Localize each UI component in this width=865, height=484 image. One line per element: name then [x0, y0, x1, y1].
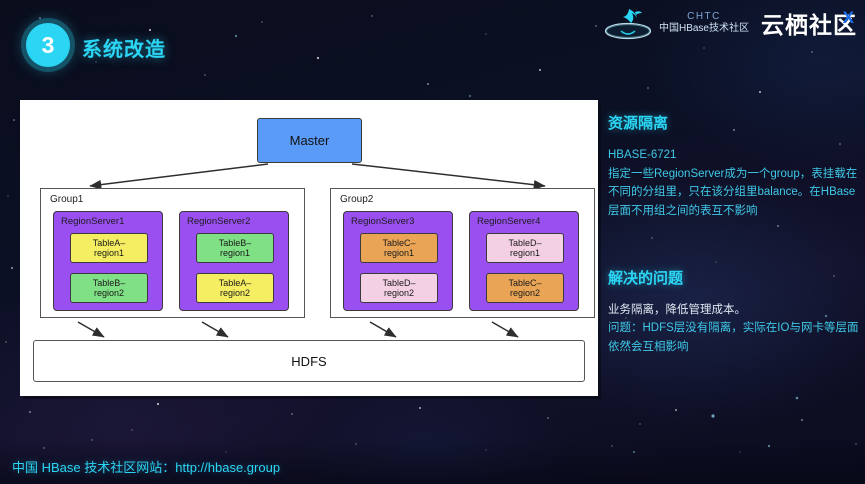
table-region-line2: region2: [384, 288, 414, 298]
section-solved-title: 解决的问题: [608, 267, 860, 288]
table-region-line2: region1: [384, 248, 414, 258]
table-region-line1: TableB–: [93, 278, 126, 288]
table-region-line1: TableC–: [382, 238, 415, 248]
table-region-line2: region1: [220, 248, 250, 258]
section-resource-isolation: 资源隔离 HBASE-6721 指定一些RegionServer成为一个grou…: [608, 112, 860, 221]
yunqi-logo: 云栖社 区 X: [761, 6, 857, 40]
regionserver-label-3: RegionServer3: [351, 216, 414, 227]
regionserver-label-4: RegionServer4: [477, 216, 540, 227]
table-region-box[interactable]: TableB– region1: [196, 233, 274, 263]
table-region-line1: TableA–: [219, 278, 252, 288]
group-container-1: Group1 RegionServer1 TableA– region1 Tab…: [40, 188, 305, 318]
dolphin-icon: [599, 3, 657, 43]
table-region-box[interactable]: TableA– region1: [70, 233, 148, 263]
table-region-line1: TableD–: [382, 278, 415, 288]
section-solved-body: 业务隔离，降低管理成本。 问题：HDFS层没有隔离，实际在IO与网卡等层面依然会…: [608, 301, 860, 357]
regionserver-node-1[interactable]: RegionServer1 TableA– region1 TableB– re…: [53, 211, 163, 311]
yunqi-logo-text: 云栖社: [761, 6, 833, 40]
isolation-description: 指定一些RegionServer成为一个group，表挂载在不同的分组里，只在该…: [608, 165, 860, 221]
group-label-1: Group1: [50, 194, 83, 205]
master-node[interactable]: Master: [257, 118, 362, 163]
solved-benefit-text: 业务隔离，降低管理成本。: [608, 301, 860, 320]
table-region-line2: region2: [510, 288, 540, 298]
brand-cluster: CHTC 中国HBase技术社区 云栖社 区 X: [599, 2, 857, 44]
table-region-line1: TableC–: [508, 278, 541, 288]
chtc-wordmark: CHTC 中国HBase技术社区: [659, 11, 749, 36]
regionserver-node-2[interactable]: RegionServer2 TableB– region1 TableA– re…: [179, 211, 289, 311]
page-title: 系统改造: [82, 33, 166, 62]
regionserver-node-3[interactable]: RegionServer3 TableC– region1 TableD– re…: [343, 211, 453, 311]
table-region-box[interactable]: TableB– region2: [70, 273, 148, 303]
table-region-box[interactable]: TableD– region1: [486, 233, 564, 263]
table-region-line2: region2: [220, 288, 250, 298]
table-region-box[interactable]: TableD– region2: [360, 273, 438, 303]
chtc-en-text: CHTC: [659, 11, 749, 24]
table-region-box[interactable]: TableC– region2: [486, 273, 564, 303]
master-label: Master: [290, 133, 330, 148]
step-number-text: 3: [42, 32, 55, 59]
table-region-line1: TableD–: [508, 238, 541, 248]
table-region-line1: TableB–: [219, 238, 252, 248]
issue-id-text: HBASE-6721: [608, 146, 860, 165]
chtc-cn-text: 中国HBase技术社区: [659, 23, 749, 36]
section-isolation-body: HBASE-6721 指定一些RegionServer成为一个group，表挂载…: [608, 146, 860, 221]
footer-website-text: 中国 HBase 技术社区网站：http://hbase.group: [12, 457, 280, 476]
section-solved-problems: 解决的问题 业务隔离，降低管理成本。 问题：HDFS层没有隔离，实际在IO与网卡…: [608, 267, 860, 357]
hdfs-node[interactable]: HDFS: [33, 340, 585, 382]
hdfs-label: HDFS: [291, 354, 326, 369]
regionserver-node-4[interactable]: RegionServer4 TableD– region1 TableC– re…: [469, 211, 579, 311]
slide-root: 3 系统改造 CHTC 中国HBase技术社区 云栖社 区 X: [0, 0, 865, 484]
regionserver-label-1: RegionServer1: [61, 216, 124, 227]
solved-problem-text: 问题：HDFS层没有隔离，实际在IO与网卡等层面依然会互相影响: [608, 319, 860, 356]
section-isolation-title: 资源隔离: [608, 112, 860, 133]
table-region-box[interactable]: TableC– region1: [360, 233, 438, 263]
group-label-2: Group2: [340, 194, 373, 205]
table-region-box[interactable]: TableA– region2: [196, 273, 274, 303]
architecture-diagram: Master Group1 RegionServer1 TableA– regi…: [20, 100, 598, 396]
table-region-line2: region2: [94, 288, 124, 298]
table-region-line2: region1: [94, 248, 124, 258]
right-text-column: 资源隔离 HBASE-6721 指定一些RegionServer成为一个grou…: [608, 112, 860, 356]
regionserver-label-2: RegionServer2: [187, 216, 250, 227]
step-number-badge: 3: [26, 23, 70, 67]
yunqi-x-mark: X: [843, 9, 855, 26]
yunqi-boxed-char: 区 X: [833, 6, 857, 40]
group-container-2: Group2 RegionServer3 TableC– region1 Tab…: [330, 188, 595, 318]
table-region-line1: TableA–: [93, 238, 126, 248]
table-region-line2: region1: [510, 248, 540, 258]
